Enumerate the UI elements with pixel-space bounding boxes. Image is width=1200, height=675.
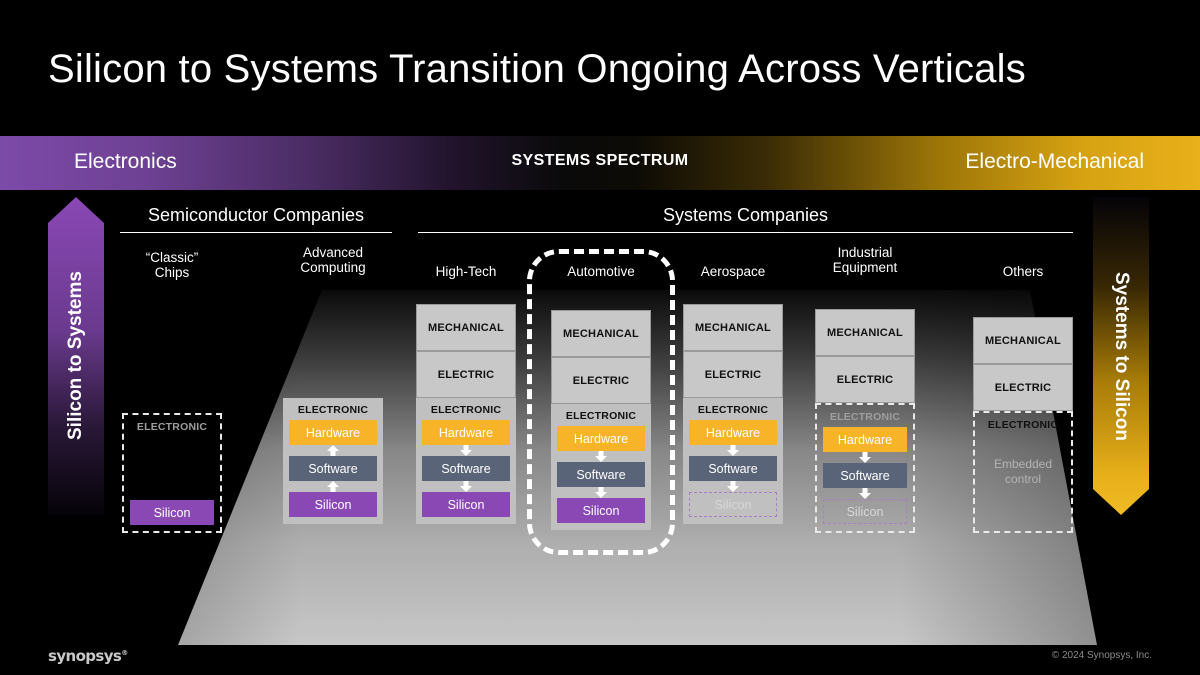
layer-silicon-automotive: Silicon [557,498,645,523]
block-electronic-high-tech: ELECTRONICHardwareSoftwareSilicon [416,398,516,524]
column-stack-aerospace: MECHANICALELECTRICELECTRONICHardwareSoft… [683,304,783,524]
block-electric-industrial-equipment: ELECTRIC [815,356,915,403]
group-header-semiconductor: Semiconductor Companies [120,205,392,233]
electronic-label-automotive: ELECTRONIC [557,408,645,426]
arrow-down-icon [459,445,473,456]
arrow-down-icon [858,452,872,463]
silicon-to-systems-label: Silicon to Systems [48,197,104,515]
layer-connector-automotive-2 [557,487,645,498]
layer-connector-automotive-1 [557,451,645,462]
electronic-label-advanced-computing: ELECTRONIC [289,402,377,420]
group-header-systems: Systems Companies [418,205,1073,233]
block-mechanical-others: MECHANICAL [973,317,1073,364]
layer-connector-high-tech-1 [422,445,510,456]
group-header-systems-rule [418,232,1073,233]
block-electronic-automotive: ELECTRONICHardwareSoftwareSilicon [551,404,651,530]
layer-connector-industrial-equipment-1 [823,452,907,463]
layer-software-automotive: Software [557,462,645,487]
column-others[interactable]: Others [973,264,1073,279]
systems-to-silicon-arrow: Systems to Silicon [1093,197,1149,515]
column-classic-chips[interactable]: “Classic” Chips [122,250,222,280]
column-stack-advanced-computing: ELECTRONICHardwareSoftwareSilicon [283,398,383,524]
layer-silicon-industrial-equipment: Silicon [823,499,907,524]
electronic-label-industrial-equipment: ELECTRONIC [823,409,907,427]
block-mechanical-aerospace: MECHANICAL [683,304,783,351]
column-title-advanced-computing: Advanced Computing [300,245,365,275]
column-title-automotive: Automotive [567,264,635,279]
layer-software-industrial-equipment: Software [823,463,907,488]
layer-connector-aerospace-2 [689,481,777,492]
column-automotive[interactable]: Automotive [551,264,651,279]
column-industrial-equipment[interactable]: Industrial Equipment [815,245,915,275]
block-mechanical-high-tech: MECHANICAL [416,304,516,351]
block-electronic-others: ELECTRONICEmbedded control [973,411,1073,533]
layer-silicon-advanced-computing: Silicon [289,492,377,517]
layer-connector-advanced-computing-1 [289,445,377,456]
layer-hardware-aerospace: Hardware [689,420,777,445]
arrow-down-icon [459,481,473,492]
layer-software-aerospace: Software [689,456,777,481]
column-title-classic-chips: “Classic” Chips [146,250,199,280]
layer-software-high-tech: Software [422,456,510,481]
arrow-down-icon [858,488,872,499]
copyright-notice: © 2024 Synopsys, Inc. [1052,650,1152,661]
embedded-control-note: Embedded control [994,457,1052,487]
layer-hardware-industrial-equipment: Hardware [823,427,907,452]
synopsys-logo: synopsys® [48,647,128,665]
layer-connector-high-tech-2 [422,481,510,492]
block-electric-automotive: ELECTRIC [551,357,651,404]
group-header-systems-label: Systems Companies [418,205,1073,232]
logo-wordmark: synopsys [48,647,121,665]
logo-registered-mark: ® [121,649,127,657]
electronic-label-high-tech: ELECTRONIC [422,402,510,420]
spectrum-right-label: Electro-Mechanical [965,150,1144,174]
layer-silicon-aerospace: Silicon [689,492,777,517]
group-header-semiconductor-label: Semiconductor Companies [120,205,392,232]
block-electric-others: ELECTRIC [973,364,1073,411]
layer-connector-advanced-computing-2 [289,481,377,492]
column-advanced-computing[interactable]: Advanced Computing [283,245,383,275]
layer-silicon-high-tech: Silicon [422,492,510,517]
column-aerospace[interactable]: Aerospace [683,264,783,279]
column-title-industrial-equipment: Industrial Equipment [833,245,898,275]
arrow-down-icon [594,487,608,498]
systems-to-silicon-label: Systems to Silicon [1093,197,1149,515]
column-title-others: Others [1003,264,1044,279]
arrow-up-icon [326,481,340,492]
layer-connector-aerospace-1 [689,445,777,456]
block-mechanical-industrial-equipment: MECHANICAL [815,309,915,356]
electronic-label-classic-chips: ELECTRONIC [130,419,214,437]
layer-hardware-automotive: Hardware [557,426,645,451]
column-high-tech[interactable]: High-Tech [416,264,516,279]
column-title-high-tech: High-Tech [436,264,497,279]
block-electronic-classic-chips: ELECTRONICSilicon [122,413,222,533]
page-title: Silicon to Systems Transition Ongoing Ac… [48,47,1026,92]
layer-silicon-classic-chips: Silicon [130,500,214,525]
block-electric-high-tech: ELECTRIC [416,351,516,398]
block-electronic-aerospace: ELECTRONICHardwareSoftwareSilicon [683,398,783,524]
silicon-to-systems-arrow: Silicon to Systems [48,197,104,515]
block-electric-aerospace: ELECTRIC [683,351,783,398]
column-stack-others: MECHANICALELECTRICELECTRONICEmbedded con… [973,317,1073,533]
layer-hardware-high-tech: Hardware [422,420,510,445]
layer-software-advanced-computing: Software [289,456,377,481]
column-stack-automotive: MECHANICALELECTRICELECTRONICHardwareSoft… [551,310,651,530]
column-title-aerospace: Aerospace [701,264,766,279]
arrow-down-icon [726,445,740,456]
block-electronic-advanced-computing: ELECTRONICHardwareSoftwareSilicon [283,398,383,524]
layer-hardware-advanced-computing: Hardware [289,420,377,445]
arrow-up-icon [326,445,340,456]
block-mechanical-automotive: MECHANICAL [551,310,651,357]
column-stack-industrial-equipment: MECHANICALELECTRICELECTRONICHardwareSoft… [815,309,915,533]
electronic-label-aerospace: ELECTRONIC [689,402,777,420]
arrow-down-icon [726,481,740,492]
electronic-label-others: ELECTRONIC [988,417,1058,435]
group-header-semiconductor-rule [120,232,392,233]
arrow-down-icon [594,451,608,462]
column-stack-high-tech: MECHANICALELECTRICELECTRONICHardwareSoft… [416,304,516,524]
layer-connector-industrial-equipment-2 [823,488,907,499]
block-electronic-industrial-equipment: ELECTRONICHardwareSoftwareSilicon [815,403,915,533]
column-stack-classic-chips: ELECTRONICSilicon [122,413,222,533]
